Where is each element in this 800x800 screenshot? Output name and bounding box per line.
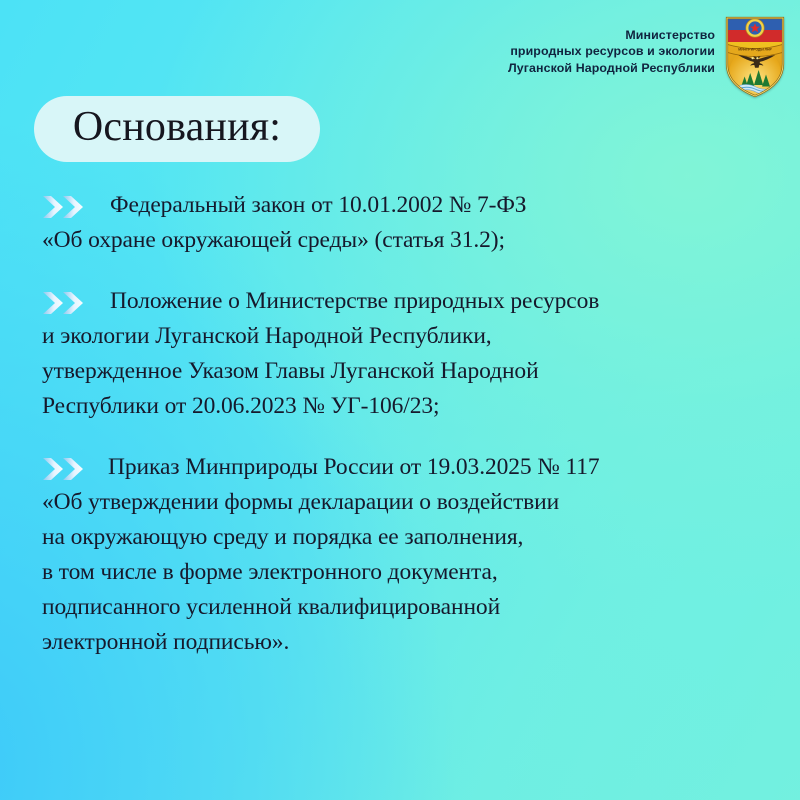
double-chevron-icon [42, 291, 98, 315]
poster-canvas: Министерство природных ресурсов и эколог… [0, 0, 800, 800]
ministry-name-line-1: Министерство [508, 27, 715, 43]
page-title: Основания: [73, 106, 281, 148]
ministry-name-line-3: Луганской Народной Республики [508, 60, 715, 76]
list-item-text: Федеральный закон от 10.01.2002 № 7-ФЗ «… [42, 188, 786, 258]
list-item: Федеральный закон от 10.01.2002 № 7-ФЗ «… [42, 188, 786, 258]
list-item-text: Приказ Минприроды России от 19.03.2025 №… [42, 450, 786, 660]
page-title-badge: Основания: [34, 96, 320, 162]
ministry-name: Министерство природных ресурсов и эколог… [508, 26, 715, 76]
list-item: Положение о Министерстве природных ресур… [42, 284, 786, 424]
svg-text:МИНПРИРОДЫ ЛНР: МИНПРИРОДЫ ЛНР [738, 47, 772, 51]
list-item: Приказ Минприроды России от 19.03.2025 №… [42, 450, 786, 660]
list-item-text: Положение о Министерстве природных ресур… [42, 284, 786, 424]
grounds-list: Федеральный закон от 10.01.2002 № 7-ФЗ «… [42, 188, 786, 660]
ministry-emblem-icon: МИНПРИРОДЫ ЛНР [724, 14, 786, 99]
double-chevron-icon [42, 195, 98, 219]
ministry-name-line-2: природных ресурсов и экологии [508, 43, 715, 59]
ministry-header: Министерство природных ресурсов и эколог… [508, 26, 786, 99]
double-chevron-icon [42, 457, 98, 481]
